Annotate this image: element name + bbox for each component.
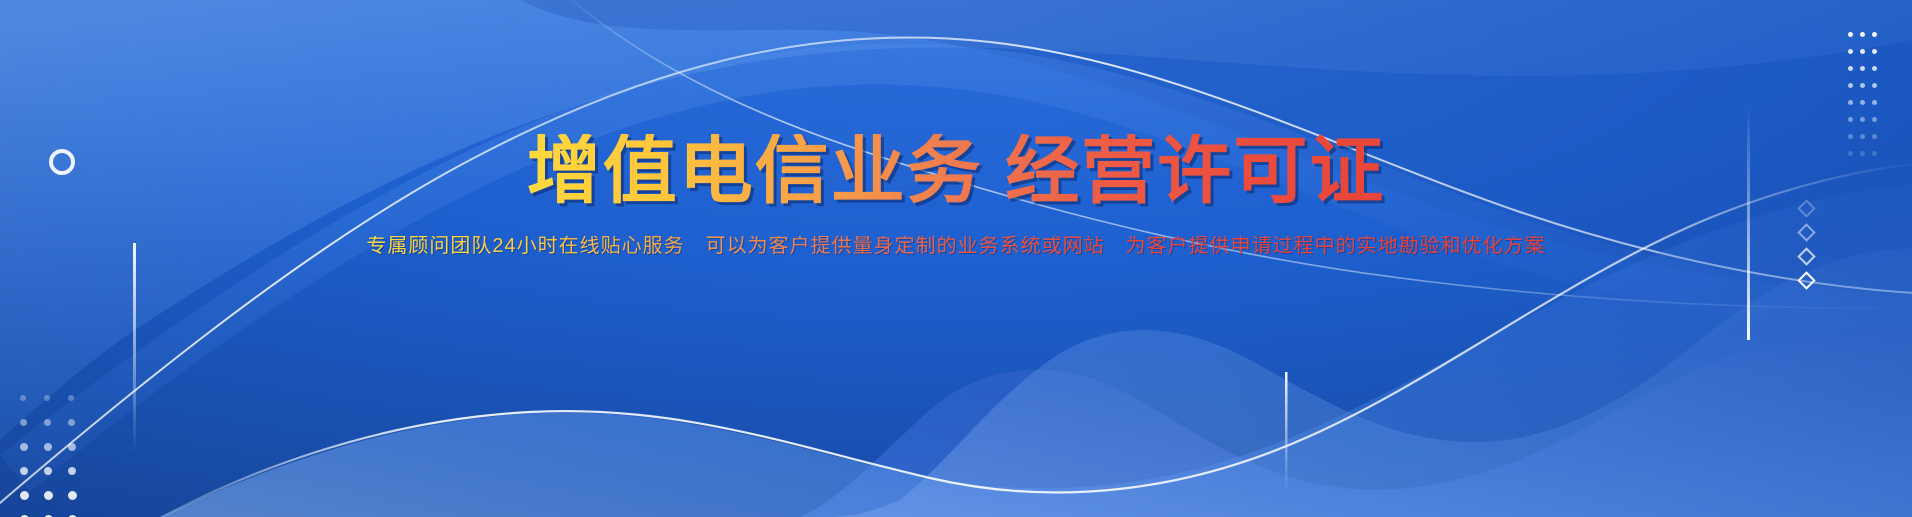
banner-text-block: 增值电信业务 经营许可证 专属顾问团队24小时在线贴心服务 可以为客户提供量身定… bbox=[0, 0, 1912, 517]
banner-subtitle: 专属顾问团队24小时在线贴心服务 可以为客户提供量身定制的业务系统或网站 为客户… bbox=[366, 236, 1545, 256]
promo-banner: 增值电信业务 经营许可证 专属顾问团队24小时在线贴心服务 可以为客户提供量身定… bbox=[0, 0, 1912, 517]
banner-title: 增值电信业务 经营许可证 bbox=[527, 134, 1386, 208]
